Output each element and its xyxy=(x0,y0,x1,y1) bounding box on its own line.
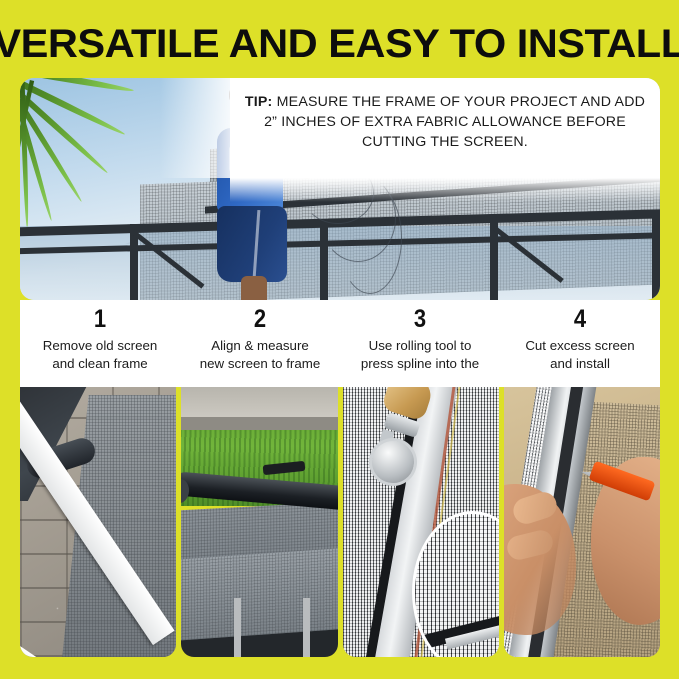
infographic-page: VERSATILE AND EASY TO INSTALL xyxy=(0,0,679,679)
tip-label: TIP: xyxy=(245,94,273,110)
step-photo-4 xyxy=(504,387,660,657)
step-text-3: Use rolling tool to press spline into th… xyxy=(361,337,479,372)
tip-callout: TIP: MEASURE THE FRAME OF YOUR PROJECT A… xyxy=(230,78,660,178)
step-caption-3: 3 Use rolling tool to press spline into … xyxy=(340,300,500,387)
step-photo-2 xyxy=(181,387,337,657)
page-title: VERSATILE AND EASY TO INSTALL xyxy=(0,20,679,68)
tip-text: TIP: MEASURE THE FRAME OF YOUR PROJECT A… xyxy=(230,92,660,152)
frame-post-d xyxy=(652,216,660,300)
step-caption-4: 4 Cut excess screen and install xyxy=(500,300,660,387)
steps-caption-band: 1 Remove old screen and clean frame 2 Al… xyxy=(20,300,660,387)
step-text-2: Align & measure new screen to frame xyxy=(200,337,320,372)
step-photo-1 xyxy=(20,387,176,657)
step-number-2: 2 xyxy=(254,304,266,334)
step-number-4: 4 xyxy=(574,304,586,334)
step-caption-1: 1 Remove old screen and clean frame xyxy=(20,300,180,387)
step-photo-3 xyxy=(343,387,499,657)
hero-photo: TIP: MEASURE THE FRAME OF YOUR PROJECT A… xyxy=(20,78,660,300)
step-text-4: Cut excess screen and install xyxy=(525,337,634,372)
step-text-1: Remove old screen and clean frame xyxy=(43,337,158,372)
step-number-3: 3 xyxy=(414,304,426,334)
step-caption-2: 2 Align & measure new screen to frame xyxy=(180,300,340,387)
steps-photo-strip xyxy=(20,387,660,657)
tip-body: MEASURE THE FRAME OF YOUR PROJECT AND AD… xyxy=(264,94,645,150)
step-number-1: 1 xyxy=(94,304,106,334)
hero-photo-card: TIP: MEASURE THE FRAME OF YOUR PROJECT A… xyxy=(20,78,660,300)
